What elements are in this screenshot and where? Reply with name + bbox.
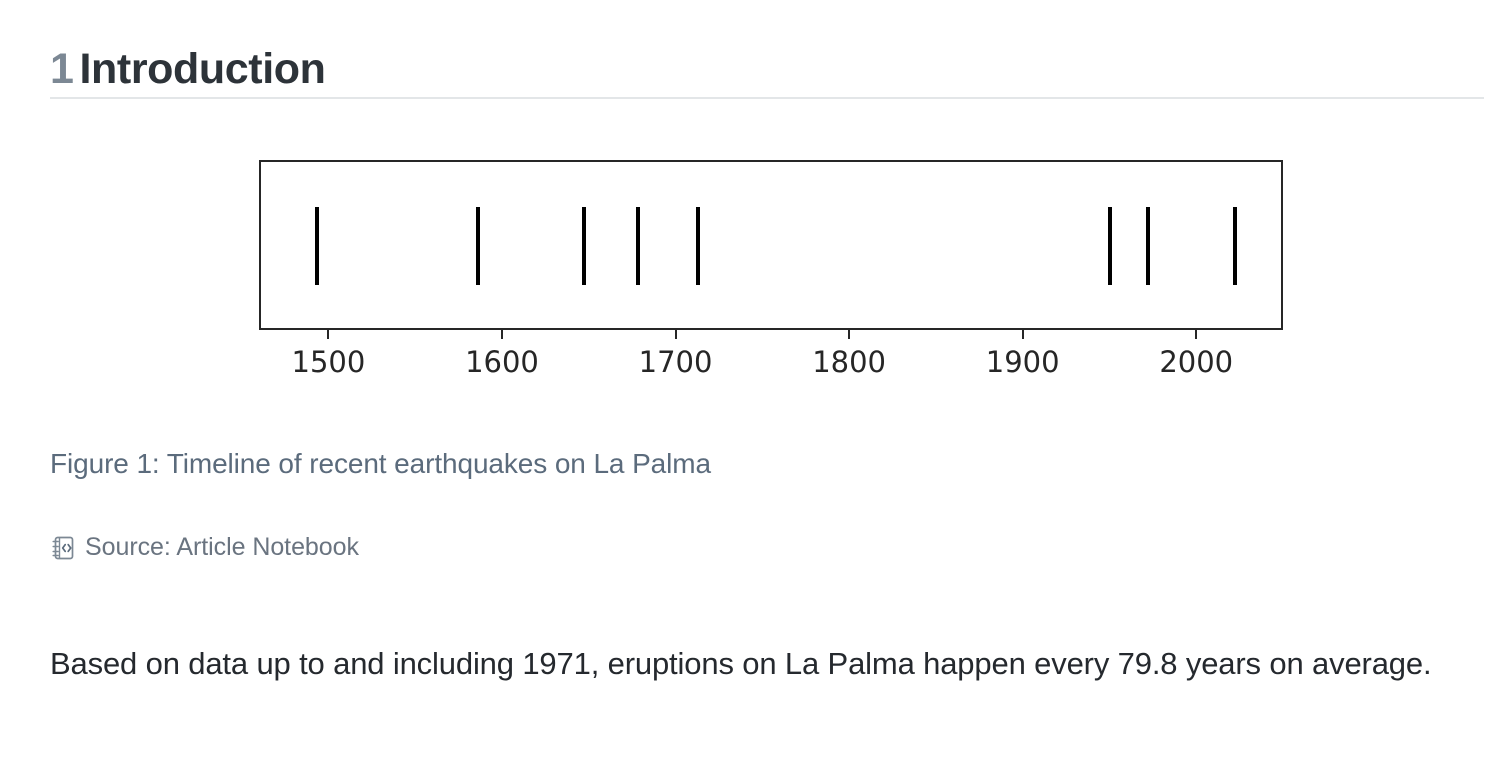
x-axis-tick-label: 1600 xyxy=(465,345,539,379)
x-axis-tick xyxy=(501,330,503,339)
plot-area xyxy=(259,160,1283,330)
x-axis-tick xyxy=(327,330,329,339)
event-mark xyxy=(476,207,480,285)
x-axis-tick-label: 1800 xyxy=(812,345,886,379)
x-axis-tick-label: 1900 xyxy=(986,345,1060,379)
article-page: 1Introduction 150016001700180019002000 F… xyxy=(0,0,1500,760)
x-axis-tick xyxy=(848,330,850,339)
x-axis-tick xyxy=(1195,330,1197,339)
body-paragraph: Based on data up to and including 1971, … xyxy=(50,636,1440,692)
figure-source-label: Source: Article Notebook xyxy=(85,533,359,562)
event-mark xyxy=(1108,207,1112,285)
x-axis-tick xyxy=(675,330,677,339)
event-mark xyxy=(636,207,640,285)
figure-source[interactable]: Source: Article Notebook xyxy=(50,533,359,562)
event-mark xyxy=(1233,207,1237,285)
figure-caption: Figure 1: Timeline of recent earthquakes… xyxy=(50,448,711,480)
event-mark xyxy=(1146,207,1150,285)
x-axis-tick-label: 1700 xyxy=(639,345,713,379)
x-axis-tick-label: 2000 xyxy=(1159,345,1233,379)
x-axis-tick-label: 1500 xyxy=(292,345,366,379)
event-mark xyxy=(696,207,700,285)
event-mark xyxy=(315,207,319,285)
event-mark xyxy=(582,207,586,285)
figure-timeline: 150016001700180019002000 xyxy=(0,0,1500,400)
x-axis-tick xyxy=(1022,330,1024,339)
code-notebook-icon xyxy=(50,534,76,562)
